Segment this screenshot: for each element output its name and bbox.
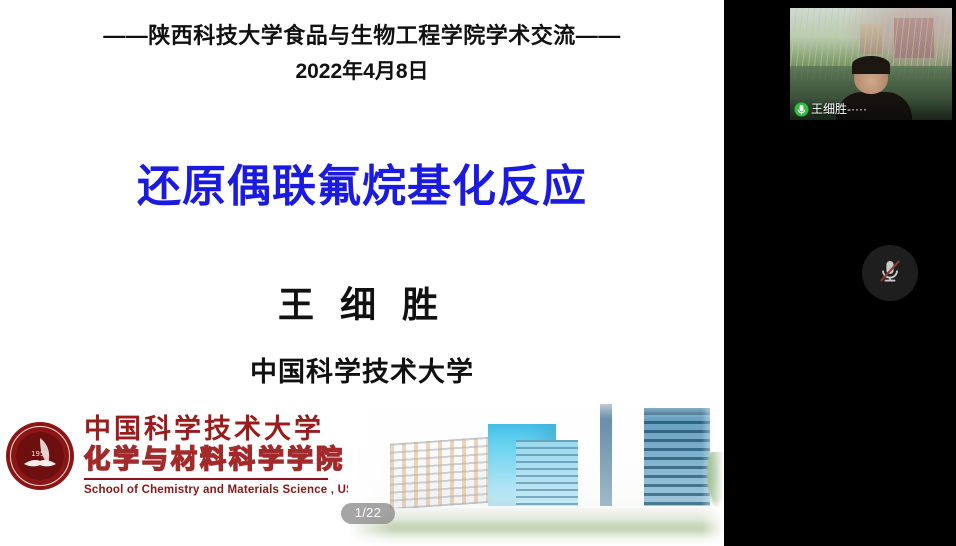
microphone-muted-icon [875, 256, 905, 291]
slide-page-indicator: 1/22 [341, 503, 395, 524]
building-block-center-windows [516, 440, 578, 506]
building-plaza [384, 508, 716, 520]
building-tower-thin [600, 404, 612, 506]
slide-speaker-name: 王 细 胜 [0, 283, 724, 326]
campus-building-image [348, 392, 724, 546]
ustc-school-name-en: School of Chemistry and Materials Scienc… [84, 484, 370, 496]
video-name-bar: 王细胜-···· [790, 98, 952, 120]
ustc-logo-text: 中国科学技术大学 化学与材料科学学院 School of Chemistry a… [84, 414, 370, 496]
slide-main-title: 还原偶联氟烷基化反应 [0, 163, 724, 211]
self-view-video-tile[interactable]: 王细胜-···· [790, 8, 952, 120]
logo-divider [84, 478, 328, 480]
slide-header-line1: ——陕西科技大学食品与生物工程学院学术交流—— [0, 22, 724, 50]
self-view-participant-name: 王细胜-···· [811, 102, 867, 116]
ustc-seal-icon: 1958 [4, 420, 76, 492]
meeting-side-panel: 王细胜-···· [724, 0, 956, 546]
microphone-on-icon [794, 102, 809, 117]
ustc-university-name-cn: 中国科学技术大学 [84, 416, 370, 444]
building-block-left [390, 436, 498, 510]
svg-text:1958: 1958 [31, 450, 49, 458]
slide-header: ——陕西科技大学食品与生物工程学院学术交流—— 2022年4月8日 [0, 22, 724, 84]
shared-slide[interactable]: ——陕西科技大学食品与生物工程学院学术交流—— 2022年4月8日 还原偶联氟烷… [0, 0, 724, 546]
slide-affiliation: 中国科学技术大学 [0, 356, 724, 388]
building-tree [706, 452, 724, 508]
ustc-school-name-cn: 化学与材料科学学院 [84, 446, 370, 475]
slide-header-date: 2022年4月8日 [0, 59, 724, 84]
meeting-screen-share-view: ——陕西科技大学食品与生物工程学院学术交流—— 2022年4月8日 还原偶联氟烷… [0, 0, 956, 546]
video-participant-hair [852, 56, 890, 74]
building-block-right [644, 412, 710, 506]
ustc-logo-block: 1958 中国科学技术大学 化学与材料科学学院 School of Chemis… [4, 414, 334, 526]
microphone-muted-indicator[interactable] [862, 245, 918, 301]
